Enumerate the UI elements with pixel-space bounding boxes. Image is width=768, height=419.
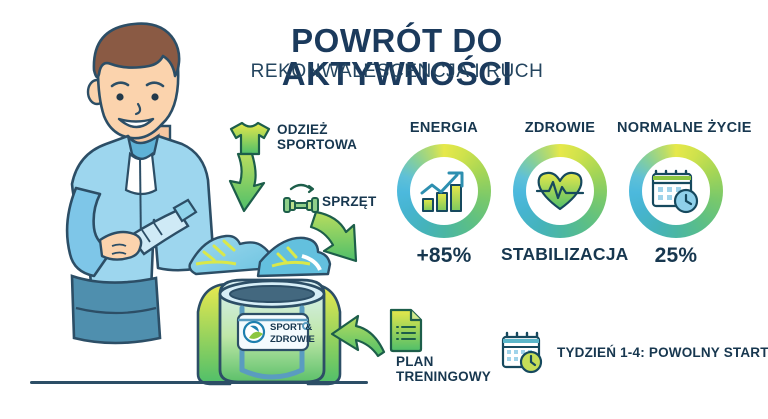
metric-health-donut bbox=[513, 144, 607, 238]
timeline-row: TYDZIEŃ 1-4: POWOLNY START bbox=[500, 330, 768, 374]
timeline-text: TYDZIEŃ 1-4: POWOLNY START bbox=[557, 345, 768, 360]
plan-label-line2: TRENINGOWY bbox=[396, 369, 491, 384]
calendar-clock-icon bbox=[500, 330, 546, 374]
metric-normal-life-caption: NORMALNE ŻYCIE bbox=[617, 120, 735, 136]
plan-label-line1: PLAN bbox=[396, 354, 434, 369]
floor-line bbox=[30, 381, 368, 384]
clothing-label: ODZIEŻ SPORTOWA bbox=[277, 122, 357, 152]
calendar-clock-icon bbox=[629, 144, 723, 238]
heart-pulse-icon bbox=[513, 144, 607, 238]
plan-label: PLAN TRENINGOWY bbox=[396, 354, 491, 384]
metric-energy: ENERGIA +85% bbox=[385, 120, 503, 268]
bag-logo-line1: SPORT & bbox=[270, 322, 312, 333]
equipment-label-text: SPRZĘT bbox=[322, 194, 376, 209]
clothing-label-line1: ODZIEŻ bbox=[277, 122, 328, 137]
metric-energy-caption: ENERGIA bbox=[385, 120, 503, 136]
bag-logo-line2: ZDROWIE bbox=[270, 334, 315, 345]
arrow-down-right-icon bbox=[310, 208, 362, 270]
metric-energy-donut bbox=[397, 144, 491, 238]
metric-health-value: STABILIZACJA bbox=[501, 244, 619, 265]
sports-bag bbox=[198, 280, 340, 384]
metric-health: ZDROWIE STABILIZACJA bbox=[501, 120, 619, 265]
metric-normal-life-value: 25% bbox=[617, 244, 735, 268]
sneakers bbox=[190, 236, 330, 276]
infographic-root: POWRÓT DO AKTYWNOŚCI REKONWALESCENCJA I … bbox=[0, 0, 768, 419]
arrow-down-left-icon bbox=[228, 152, 270, 214]
metric-health-caption: ZDROWIE bbox=[501, 120, 619, 136]
growth-chart-icon bbox=[397, 144, 491, 238]
equipment-label: SPRZĘT bbox=[322, 194, 376, 209]
arrow-left-icon bbox=[330, 312, 388, 356]
bag-logo-mark bbox=[244, 322, 264, 342]
metric-normal-life-donut bbox=[629, 144, 723, 238]
metric-energy-value: +85% bbox=[385, 244, 503, 268]
clothing-label-line2: SPORTOWA bbox=[277, 137, 357, 152]
person-hand bbox=[100, 232, 141, 260]
document-icon bbox=[387, 307, 427, 353]
metric-normal-life: NORMALNE ŻYCIE bbox=[617, 120, 735, 268]
